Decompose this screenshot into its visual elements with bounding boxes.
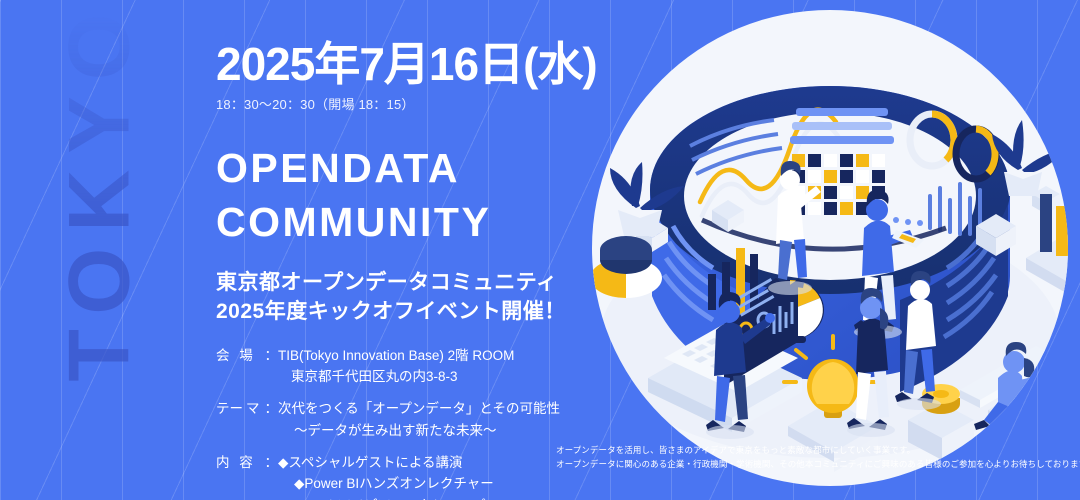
event-banner: TOKYO [0,0,1080,500]
detail-value-venue: TIB(Tokyo Innovation Base) 2階 ROOM [278,345,616,366]
title-line-1: OPENDATA [216,141,616,195]
open-data-illustration [540,0,1080,500]
detail-subvalue-address: 東京都千代田区丸の内3-8-3 [216,366,616,387]
detail-value-theme: 次代をつくる「オープンデータ」とその可能性 [278,398,616,419]
detail-subvalue-theme-tagline: 〜データが生み出す新たな未来〜 [216,420,616,441]
page-title: OPENDATA COMMUNITY [216,141,616,249]
event-time: 18：30〜20：30（開場 18：15） [216,94,616,113]
footer-note-line-1: オープンデータを活用し、皆さまのアイデアで東京をもっと素敵な都市にしていく事業で… [556,444,1080,458]
detail-subvalue-lecture: ◆Power BIハンズオンレクチャー [216,473,616,494]
subtitle: 東京都オープンデータコミュニティ 2025年度キックオフイベント開催！ [216,269,616,327]
subtitle-line-1: 東京都オープンデータコミュニティ [216,269,616,298]
detail-label-contents: 内 容 ： [216,452,278,473]
footer-note-line-2: オープンデータに関心のある企業・行政機関・学術機関、その他本コミュニティにご興味… [556,458,1080,472]
detail-row-venue: 会 場 ： TIB(Tokyo Innovation Base) 2階 ROOM [216,345,616,366]
tokyo-watermark: TOKYO [51,0,150,382]
detail-subvalue-workshop: ＋アイデアワークショップ [216,495,616,500]
detail-row-theme: テー マ ： 次代をつくる「オープンデータ」とその可能性 [216,398,616,419]
subtitle-line-2: 2025年度キックオフイベント開催！ [216,298,616,327]
event-date: 2025年7月16日(水) [216,40,616,90]
title-line-2: COMMUNITY [216,195,616,249]
detail-label-theme: テー マ ： [216,398,278,419]
detail-label-venue: 会 場 ： [216,345,278,366]
event-details: 会 場 ： TIB(Tokyo Innovation Base) 2階 ROOM… [216,345,616,500]
banner-content: 2025年7月16日(水) 18：30〜20：30（開場 18：15） OPEN… [216,40,616,500]
footer-note: オープンデータを活用し、皆さまのアイデアで東京をもっと素敵な都市にしていく事業で… [556,444,1080,472]
